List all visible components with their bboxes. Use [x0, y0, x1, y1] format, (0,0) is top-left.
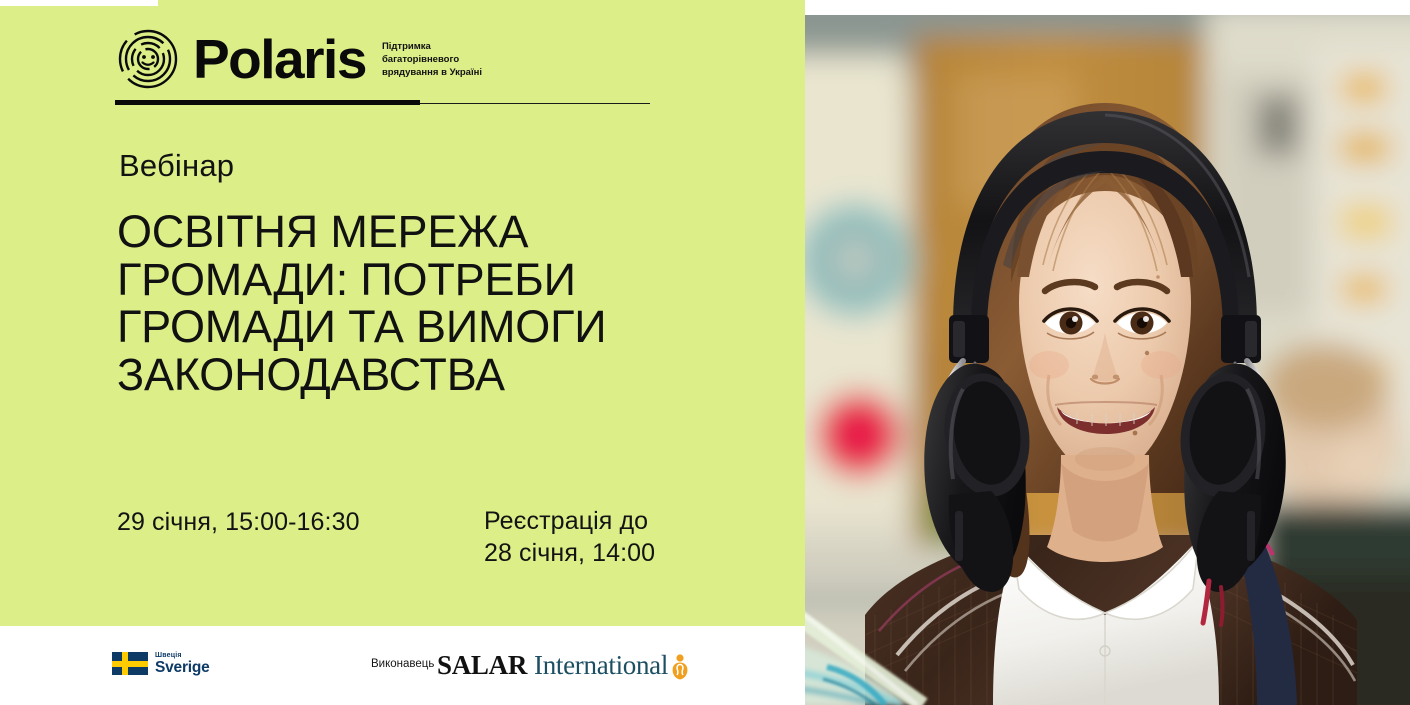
salar-secondary-text: International — [534, 650, 668, 681]
top-left-white-notch — [0, 0, 158, 6]
event-type-label: Вебінар — [119, 148, 234, 184]
event-datetime: 29 січня, 15:00-16:30 — [117, 508, 360, 537]
polaris-wordmark: Polaris — [193, 32, 366, 87]
sweden-flag-icon — [112, 652, 148, 675]
classroom-girl-headphones-photo — [805, 15, 1410, 705]
sweden-logo-text: Швеція Sverige — [155, 652, 210, 676]
sweden-name-sv: Sverige — [155, 660, 210, 676]
sweden-logo: Швеція Sverige — [112, 652, 210, 676]
webinar-banner: Polaris Підтримка багаторівневого врядув… — [0, 0, 1410, 705]
sweden-name-uk: Швеція — [155, 652, 210, 659]
salar-international-logo: SALAR International — [437, 650, 690, 681]
salar-person-icon — [670, 652, 690, 680]
header-divider — [115, 100, 650, 106]
registration-deadline: Реєстрація до 28 січня, 14:00 — [484, 505, 655, 569]
event-title: ОСВІТНЯ МЕРЕЖА ГРОМАДИ: ПОТРЕБИ ГРОМАДИ … — [117, 208, 737, 399]
implementer-label: Виконавець — [371, 658, 434, 670]
polaris-spiral-icon — [115, 28, 181, 90]
registration-deadline-line1: Реєстрація до — [484, 505, 655, 537]
registration-deadline-line2: 28 січня, 14:00 — [484, 537, 655, 569]
photo-illustration — [805, 15, 1410, 705]
salar-primary-text: SALAR — [437, 650, 527, 681]
header-divider-thin — [420, 103, 650, 104]
polaris-logo: Polaris Підтримка багаторівневого врядув… — [115, 28, 494, 90]
polaris-tagline: Підтримка багаторівневого врядування в У… — [382, 41, 494, 79]
header-divider-thick — [115, 100, 420, 105]
